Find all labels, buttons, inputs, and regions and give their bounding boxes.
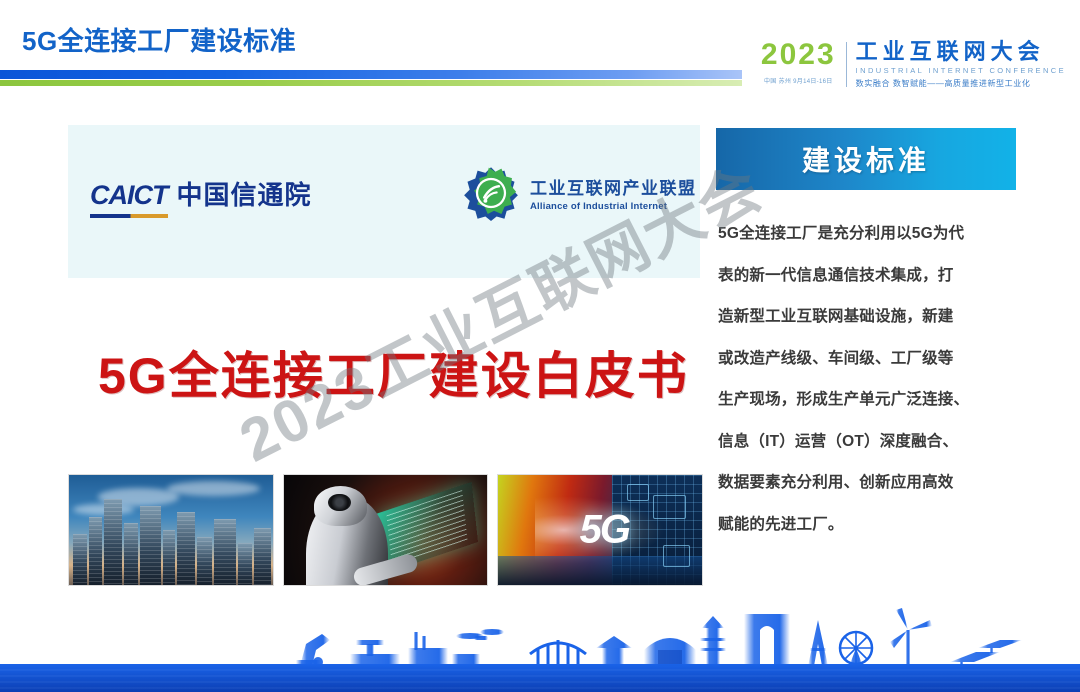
slide-canvas: 5G全连接工厂建设标准 2023 中国 苏州 9月14日-16日 工业互联网大会… — [0, 0, 1080, 692]
photo-5g-chip — [627, 484, 649, 502]
photo-city-building — [73, 534, 87, 585]
conference-name-en: INDUSTRIAL INTERNET CONFERENCE — [856, 66, 1066, 75]
photo-city-building — [177, 512, 195, 585]
photo-city-building — [197, 537, 211, 585]
header-rule-green — [0, 80, 742, 86]
conference-logo-year-block: 2023 中国 苏州 9月14日-16日 — [761, 40, 846, 85]
photo-city-building — [140, 506, 160, 585]
photo-strip: 5G — [68, 474, 703, 586]
footer-skyline — [0, 604, 1080, 692]
conference-logo-divider — [846, 42, 847, 87]
photo-5g-chip — [653, 495, 686, 519]
photo-city-skyline — [68, 474, 274, 586]
photo-city-cloud — [167, 481, 261, 496]
standard-body-line: 表的新一代信息通信技术集成，打 — [718, 268, 1018, 284]
photo-city-building — [104, 499, 122, 585]
caict-wordmark: CAICT — [90, 180, 168, 218]
standard-body-line: 生产现场，形成生产单元广泛连接、 — [718, 392, 1018, 408]
photo-city-building — [238, 543, 252, 585]
conference-logo-name-block: 工业互联网大会 INDUSTRIAL INTERNET CONFERENCE 数… — [856, 40, 1066, 89]
photo-5g-chip — [663, 545, 689, 567]
standard-body-line: 5G全连接工厂是充分利用以5G为代 — [718, 226, 1018, 242]
caict-logo: CAICT 中国信通院 — [90, 175, 312, 218]
photo-city-building — [89, 517, 101, 585]
standard-body-line: 或改造产线级、车间级、工厂级等 — [718, 351, 1018, 367]
standard-panel-header: 建设标准 — [716, 128, 1016, 190]
conference-name-cn: 工业互联网大会 — [856, 40, 1066, 63]
conference-logo: 2023 中国 苏州 9月14日-16日 工业互联网大会 INDUSTRIAL … — [761, 40, 1066, 89]
page-title: 5G全连接工厂建设标准 — [22, 21, 296, 58]
photo-city-building — [214, 519, 236, 585]
partner-logo-card: CAICT 中国信通院 — [68, 125, 700, 278]
photo-city-building — [254, 528, 270, 585]
photo-5g-label: 5G — [580, 508, 629, 553]
caict-underline — [90, 214, 168, 218]
aii-logo: 工业互联网产业联盟 Alliance of Industrial Interne… — [463, 165, 697, 221]
photo-city-building — [163, 530, 175, 585]
standard-body-line: 造新型工业互联网基础设施，新建 — [718, 309, 1018, 325]
conference-year: 2023 — [761, 40, 836, 70]
photo-robot-eye — [328, 494, 350, 512]
whitepaper-title: 5G全连接工厂建设白皮书 — [98, 336, 689, 408]
aii-name-cn: 工业互联网产业联盟 — [530, 174, 697, 199]
standard-body-line: 赋能的先进工厂。 — [718, 517, 1018, 533]
gear-icon — [463, 165, 519, 221]
standard-panel-body: 5G全连接工厂是充分利用以5G为代 表的新一代信息通信技术集成，打 造新型工业互… — [718, 226, 1018, 558]
caict-name-cn: 中国信通院 — [177, 175, 312, 218]
header-rule-blue — [0, 70, 742, 79]
caict-acronym: CAICT — [90, 180, 168, 211]
photo-city-building — [124, 523, 138, 585]
conference-place-date: 中国 苏州 9月14日-16日 — [761, 76, 836, 85]
aii-text-block: 工业互联网产业联盟 Alliance of Industrial Interne… — [530, 174, 697, 212]
standard-body-line: 数据要素充分利用、创新应用高效 — [718, 475, 1018, 491]
photo-5g-technology: 5G — [497, 474, 703, 586]
photo-robot-tablet — [283, 474, 489, 586]
standard-body-line: 信息（IT）运营（OT）深度融合、 — [718, 434, 1018, 450]
standard-panel-header-text: 建设标准 — [802, 139, 930, 179]
aii-name-en: Alliance of Industrial Internet — [530, 201, 697, 212]
conference-slogan: 数实融合 数智赋能——高质量推进新型工业化 — [856, 78, 1066, 89]
